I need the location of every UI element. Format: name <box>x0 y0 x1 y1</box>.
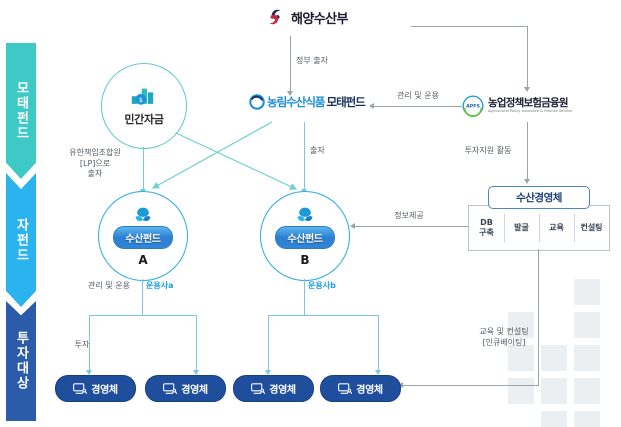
lp-contribution-label: 유한책임조합원 [LP]으로 출자 <box>56 148 134 180</box>
panel-cell-db: DB 구축 <box>469 206 504 250</box>
manage-operate-line <box>374 106 462 107</box>
mother-fund-label-primary: 농림수산식품 <box>267 94 324 110</box>
edu-consulting-label: 교육 및 컨설팅 [인큐베이팅] <box>473 327 535 348</box>
apfs-logo-icon: APFS <box>462 95 484 117</box>
fund-a-branch-2 <box>196 315 197 371</box>
apfs-node: APFS 농업정책보험금융원 Agricultural Policy Insur… <box>462 95 572 117</box>
entity-pill-3: 경영체 <box>233 375 314 402</box>
operator-b-line <box>304 279 305 315</box>
invest-support-line <box>527 122 528 180</box>
manage-operate-arrow <box>369 103 374 109</box>
supervision-line-v <box>527 26 528 88</box>
fisheries-entity-title: 수산경영체 <box>488 186 590 209</box>
private-capital-label: 민간자금 <box>124 111 163 127</box>
investment-label: 투자 <box>64 340 100 351</box>
mother-fund-node: 농림수산식품 모태펀드 <box>249 94 365 110</box>
taegeuk-logo-icon <box>264 6 286 28</box>
fisheries-entity-panel: DB 구축 발굴 교육 컨설팅 <box>468 205 610 251</box>
manage-operate-label: 관리 및 운용 <box>382 91 454 102</box>
panel-cell-consulting: 컨설팅 <box>574 206 609 250</box>
fund-b-branch-1 <box>268 315 269 371</box>
contribution-line-b <box>304 122 305 190</box>
contribution-label: 출자 <box>310 146 350 157</box>
fund-a-node: 수산펀드 A <box>98 191 188 281</box>
ministry-label: 해양수산부 <box>291 8 348 27</box>
monitor-user-icon <box>163 383 177 395</box>
fund-a-letter: A <box>138 253 147 267</box>
svg-text:$: $ <box>139 96 143 103</box>
edu-consulting-line-h <box>403 385 539 386</box>
panel-cell-discovery: 발굴 <box>504 206 539 250</box>
fund-a-fanout-h <box>89 315 196 316</box>
fund-b-badge: 수산펀드 <box>275 226 334 249</box>
entity-pill-4: 경영체 <box>320 375 401 402</box>
entity-pill-label: 경영체 <box>269 381 295 396</box>
fund-b-node: 수산펀드 B <box>260 191 350 281</box>
gov-investment-label: 정부 출자 <box>296 56 356 67</box>
gov-investment-line <box>290 36 291 92</box>
entity-pill-2: 경영체 <box>145 375 226 402</box>
monitor-user-icon <box>73 383 87 395</box>
rail-band-label: 자펀드 <box>15 218 28 263</box>
diagram-canvas: 모태펀드 자펀드 투자대상 해양수산부 정부 출자 $ 민간자금 <box>0 0 621 427</box>
rail-band-label: 모태펀드 <box>15 81 28 141</box>
invest-support-arrow <box>524 179 530 184</box>
private-capital-to-fund-b-edge <box>176 133 296 189</box>
info-provide-line <box>355 226 468 227</box>
mother-fund-label-secondary: 모태펀드 <box>326 94 364 110</box>
leaf-circle-icon <box>132 206 154 226</box>
edu-consulting-line-v <box>538 249 539 385</box>
lp-line-a <box>143 147 144 190</box>
fund-b-fanout-h <box>268 315 378 316</box>
entity-pill-label: 경영체 <box>356 381 382 396</box>
fund-a-badge: 수산펀드 <box>113 226 172 249</box>
leaf-circle-icon <box>294 206 316 226</box>
monitor-user-icon <box>251 383 265 395</box>
fund-b-letter: B <box>300 253 309 267</box>
swoosh-circle-logo-icon <box>249 94 265 110</box>
entity-pill-1: 경영체 <box>55 375 136 402</box>
invest-support-label: 투자지원 활동 <box>455 146 521 157</box>
apfs-label-en: Agricultural Policy Insurance & Finance … <box>488 110 572 114</box>
entity-pill-label: 경영체 <box>91 381 117 396</box>
stage-rail: 모태펀드 자펀드 투자대상 <box>6 43 36 421</box>
money-stack-icon: $ <box>131 86 157 108</box>
operator-a-label: 운용사a <box>146 281 190 292</box>
apfs-badge-text: APFS <box>466 104 480 110</box>
operator-a-line <box>142 279 143 315</box>
rail-band-mother-fund: 모태펀드 <box>6 43 36 179</box>
info-provide-arrow <box>350 223 355 229</box>
ministry-node: 해양수산부 <box>264 6 348 28</box>
operator-b-label: 운용사b <box>308 281 352 292</box>
entity-pill-label: 경영체 <box>181 381 207 396</box>
rail-band-child-fund: 자펀드 <box>6 173 36 307</box>
private-capital-node: $ 민간자금 <box>101 63 187 149</box>
fund-b-branch-2 <box>378 315 379 371</box>
apfs-label-ko: 농업정책보험금융원 <box>488 98 572 110</box>
rail-band-investment-target: 투자대상 <box>6 301 36 421</box>
panel-cell-education: 교육 <box>539 206 574 250</box>
rail-band-label: 투자대상 <box>15 331 28 391</box>
info-provide-label: 정보제공 <box>378 211 440 222</box>
manage-operate-fund-label: 관리 및 운용 <box>78 281 140 292</box>
monitor-user-icon <box>338 383 352 395</box>
supervision-arrow <box>524 87 530 92</box>
supervision-line-h <box>411 26 528 27</box>
